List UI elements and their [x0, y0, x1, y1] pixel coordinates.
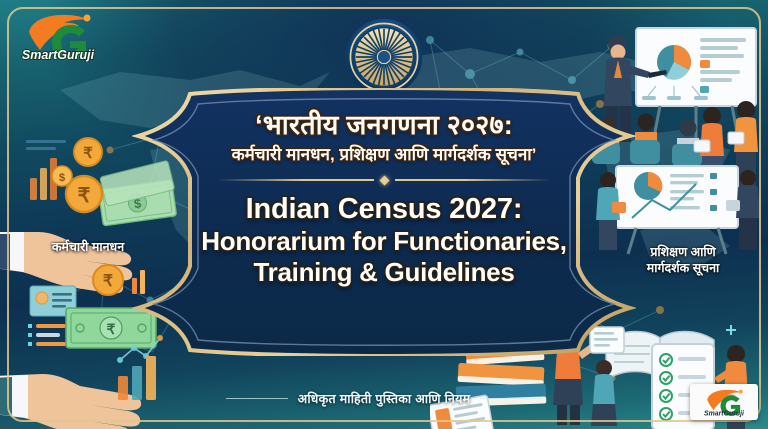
footer-caption-text: अधिकृत माहिती पुस्तिका आणि नियम: [298, 390, 471, 407]
badge-honorarium: कर्मचारी मानधन: [6, 240, 170, 256]
poster-canvas: $ ₹ $ ₹: [0, 0, 768, 429]
english-title-line3: Training & Guidelines: [254, 258, 515, 287]
diamond-divider-icon: [217, 177, 551, 184]
english-title-line2: Honorarium for Functionaries,: [201, 227, 566, 256]
svg-text:$: $: [59, 172, 65, 184]
smartguruji-logo-icon: SmartGuruji: [12, 10, 104, 62]
svg-text:SmartGuruji: SmartGuruji: [704, 410, 745, 417]
footer-rule-right: [480, 398, 542, 400]
badge-training-guidelines: प्रशिक्षण आणि मार्गदर्शक सूचना: [602, 245, 764, 276]
badge-training-label-line2: मार्गदर्शक सूचना: [602, 261, 764, 277]
marathi-title: ‘भारतीय जनगणना २०२७:: [255, 110, 513, 140]
badge-honorarium-label: कर्मचारी मानधन: [52, 240, 124, 254]
english-title-line1: Indian Census 2027:: [246, 193, 523, 225]
footer-rule-left: [226, 398, 288, 400]
svg-text:SmartGuruji: SmartGuruji: [22, 48, 95, 62]
title-card: ‘भारतीय जनगणना २०२७: कर्मचारी मानधन, प्र…: [132, 88, 636, 356]
ashoka-chakra-icon: [345, 18, 423, 96]
marathi-subtitle: कर्मचारी मानधन, प्रशिक्षण आणि मार्गदर्शक…: [232, 145, 537, 165]
svg-text:₹: ₹: [78, 185, 91, 207]
svg-text:₹: ₹: [83, 145, 93, 162]
smartguruji-logo-footer: SmartGuruji: [690, 384, 758, 420]
footer-caption: अधिकृत माहिती पुस्तिका आणि नियम: [0, 390, 768, 407]
svg-text:₹: ₹: [103, 273, 113, 290]
badge-training-label-line1: प्रशिक्षण आणि: [602, 245, 764, 261]
smartguruji-logo-icon-small: SmartGuruji: [693, 387, 755, 417]
svg-text:₹: ₹: [107, 321, 116, 337]
